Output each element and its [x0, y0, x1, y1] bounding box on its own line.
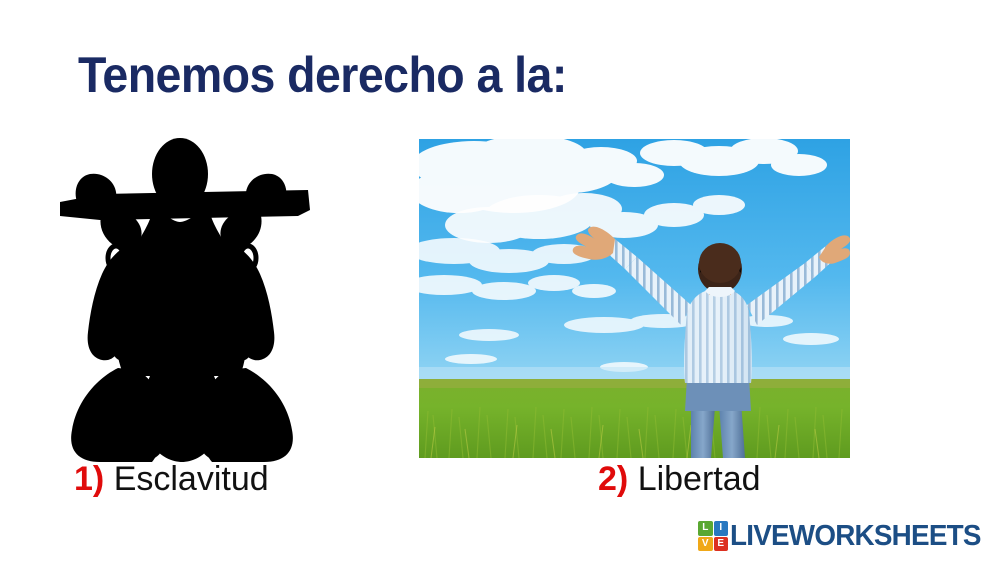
page-title: Tenemos derecho a la: — [78, 46, 567, 104]
liveworksheets-logo: L I V E LIVEWORKSHEETS — [698, 519, 991, 553]
slavery-silhouette-image — [58, 132, 348, 462]
badge-letter-i: I — [714, 521, 729, 536]
caption-slavery-number: 1) — [74, 460, 104, 498]
caption-freedom: 2) Libertad — [598, 462, 761, 496]
slavery-silhouette-icon — [58, 132, 348, 462]
caption-freedom-label: Libertad — [638, 460, 761, 498]
badge-letter-e: E — [714, 537, 729, 552]
badge-letter-v: V — [698, 537, 713, 552]
freedom-photo-graphic — [419, 139, 850, 458]
liveworksheets-wordmark: LIVEWORKSHEETS — [730, 520, 981, 553]
caption-slavery: 1) Esclavitud — [74, 462, 269, 496]
caption-freedom-number: 2) — [598, 460, 628, 498]
caption-slavery-label: Esclavitud — [114, 460, 269, 498]
liveworksheets-badge-icon: L I V E — [698, 521, 728, 551]
badge-letter-l: L — [698, 521, 713, 536]
freedom-photo-image — [419, 139, 850, 458]
